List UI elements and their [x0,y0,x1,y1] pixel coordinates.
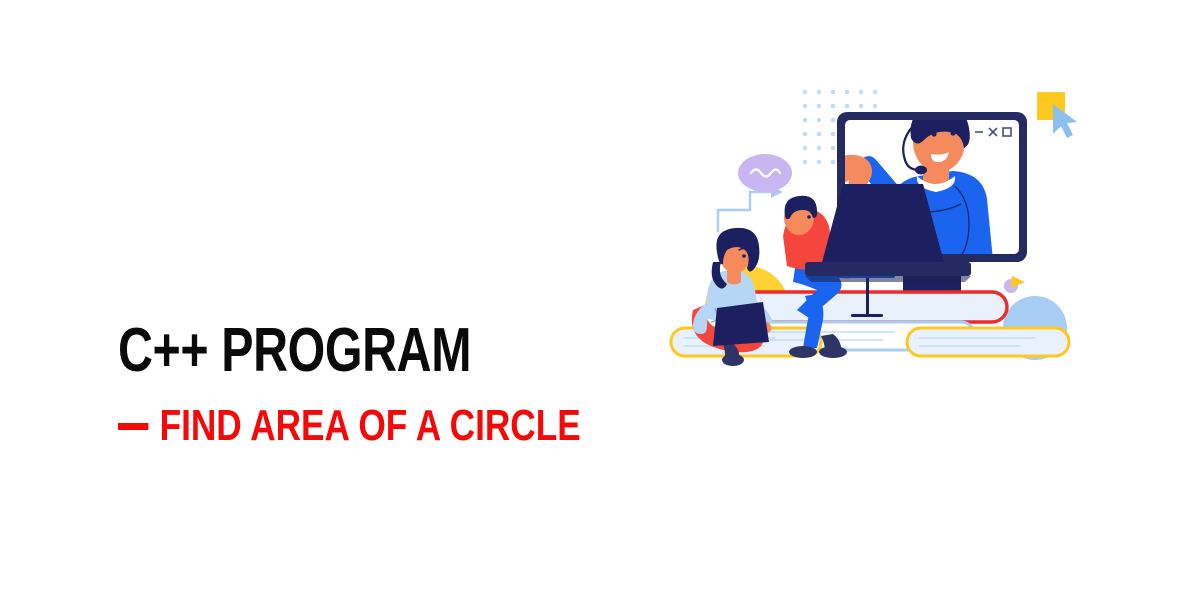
heading-block: C++ PROGRAM FIND AREA OF A CIRCLE [118,320,638,448]
illustration-svg [655,60,1085,400]
student-man-shoe-1 [789,346,817,358]
step-arrow-icon [718,192,773,232]
laptop-large-base [805,262,971,276]
play-badge-icon [1004,276,1025,293]
page-title: C++ PROGRAM [118,320,524,382]
subtitle-row: FIND AREA OF A CIRCLE [118,404,534,448]
dash-rule [118,423,148,430]
page-subtitle: FIND AREA OF A CIRCLE [160,404,581,448]
hero-illustration [655,60,1085,400]
headset-mic [915,166,927,175]
book-right-yellow [907,328,1069,356]
laptop-woman [713,302,769,346]
speech-bubble-icon [738,154,792,198]
banner-root: C++ PROGRAM FIND AREA OF A CIRCLE [0,0,1200,600]
